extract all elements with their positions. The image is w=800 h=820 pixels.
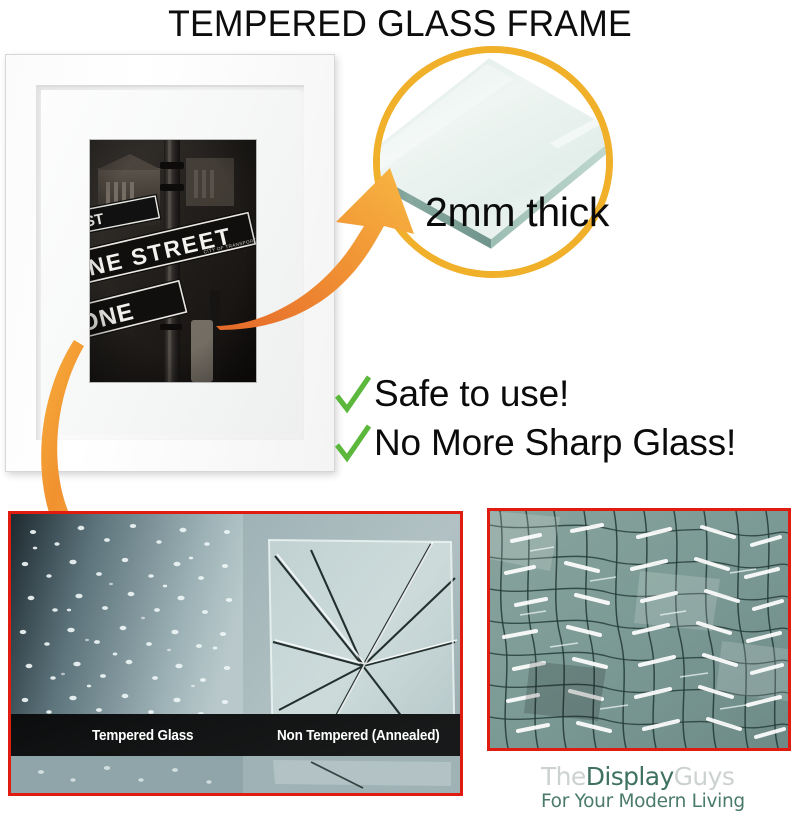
page-title: TEMPERED GLASS FRAME (16, 2, 784, 46)
tempered-vs-annealed-photo (8, 511, 463, 796)
brand-logo: TheDisplayGuys For Your Modern Living (541, 763, 793, 813)
benefit-label: Safe to use! (374, 371, 569, 417)
logo-word-display: Display (586, 762, 674, 791)
comparison-label-right: Non Tempered (Annealed) (277, 727, 440, 745)
list-item: Safe to use! (334, 372, 800, 421)
comparison-label-left: Tempered Glass (92, 727, 193, 745)
check-icon (334, 374, 372, 418)
arrow-to-glass-thickness (214, 130, 429, 330)
logo-wordmark: TheDisplayGuys (541, 763, 793, 790)
infographic-canvas: TEMPERED GLASS FRAME (0, 0, 800, 820)
logo-word-guys: Guys (674, 762, 735, 791)
logo-tagline: For Your Modern Living (541, 791, 793, 813)
glass-thickness-label: 2mm thick (425, 188, 609, 236)
benefits-list: Safe to use! No More Sharp Glass! (334, 372, 800, 470)
check-icon (334, 423, 372, 467)
benefit-label: No More Sharp Glass! (374, 420, 736, 466)
logo-word-the: The (541, 762, 586, 791)
shattered-tempered-glass-photo (487, 508, 791, 751)
list-item: No More Sharp Glass! (334, 421, 800, 470)
